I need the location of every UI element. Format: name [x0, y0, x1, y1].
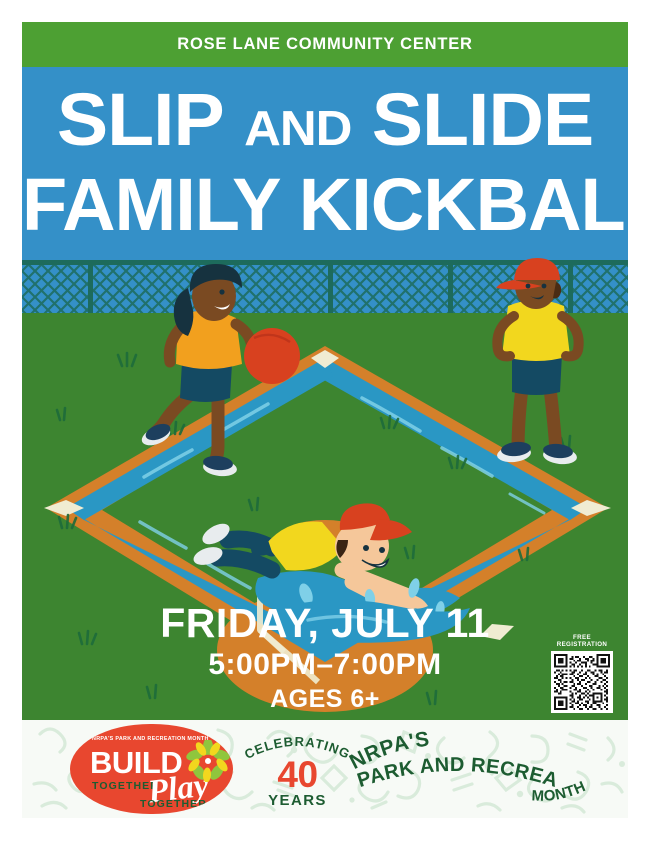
celebrating-40-years: CELEBRATING 40 YEARS [240, 734, 355, 810]
event-date: FRIDAY, JULY 11 [22, 602, 628, 645]
nrpa-banner: NRPA'S PARK AND RECREATION MONTH BUILD T… [22, 720, 628, 818]
event-time: 5:00PM–7:00PM [22, 647, 628, 683]
title-slip: SLIP [57, 78, 224, 161]
title-block: SLIP AND SLIDE FAMILY KICKBALL [22, 67, 628, 258]
celebrating-unit: YEARS [240, 792, 355, 809]
title-and: AND [244, 102, 351, 156]
title-line-1: SLIP AND SLIDE [22, 83, 628, 157]
title-slide: SLIDE [372, 78, 593, 161]
qr-label: FREE REGISTRATION [548, 634, 616, 648]
venue-header-bar: ROSE LANE COMMUNITY CENTER [22, 22, 628, 67]
poster-canvas: ROSE LANE COMMUNITY CENTER SLIP AND SLID… [22, 22, 628, 818]
event-ages: AGES 6+ [22, 684, 628, 714]
celebrating-number: 40 [240, 756, 355, 793]
event-details: FRIDAY, JULY 11 5:00PM–7:00PM AGES 6+ [22, 602, 628, 714]
poster: ROSE LANE COMMUNITY CENTER SLIP AND SLID… [0, 0, 650, 841]
badge-together-bottom: TOGETHER [140, 798, 207, 810]
nrpa-month-arc-text: NRPA'S PARK AND RECREATION MONTH [344, 726, 624, 812]
nrpa-build-play-badge: NRPA'S PARK AND RECREATION MONTH BUILD T… [70, 724, 233, 814]
qr-code-icon[interactable] [551, 651, 613, 713]
registration-qr-block[interactable]: FREE REGISTRATION [548, 634, 616, 713]
flower-icon [185, 740, 231, 782]
title-line-2: FAMILY KICKBALL [22, 168, 628, 242]
venue-name: ROSE LANE COMMUNITY CENTER [22, 22, 628, 67]
